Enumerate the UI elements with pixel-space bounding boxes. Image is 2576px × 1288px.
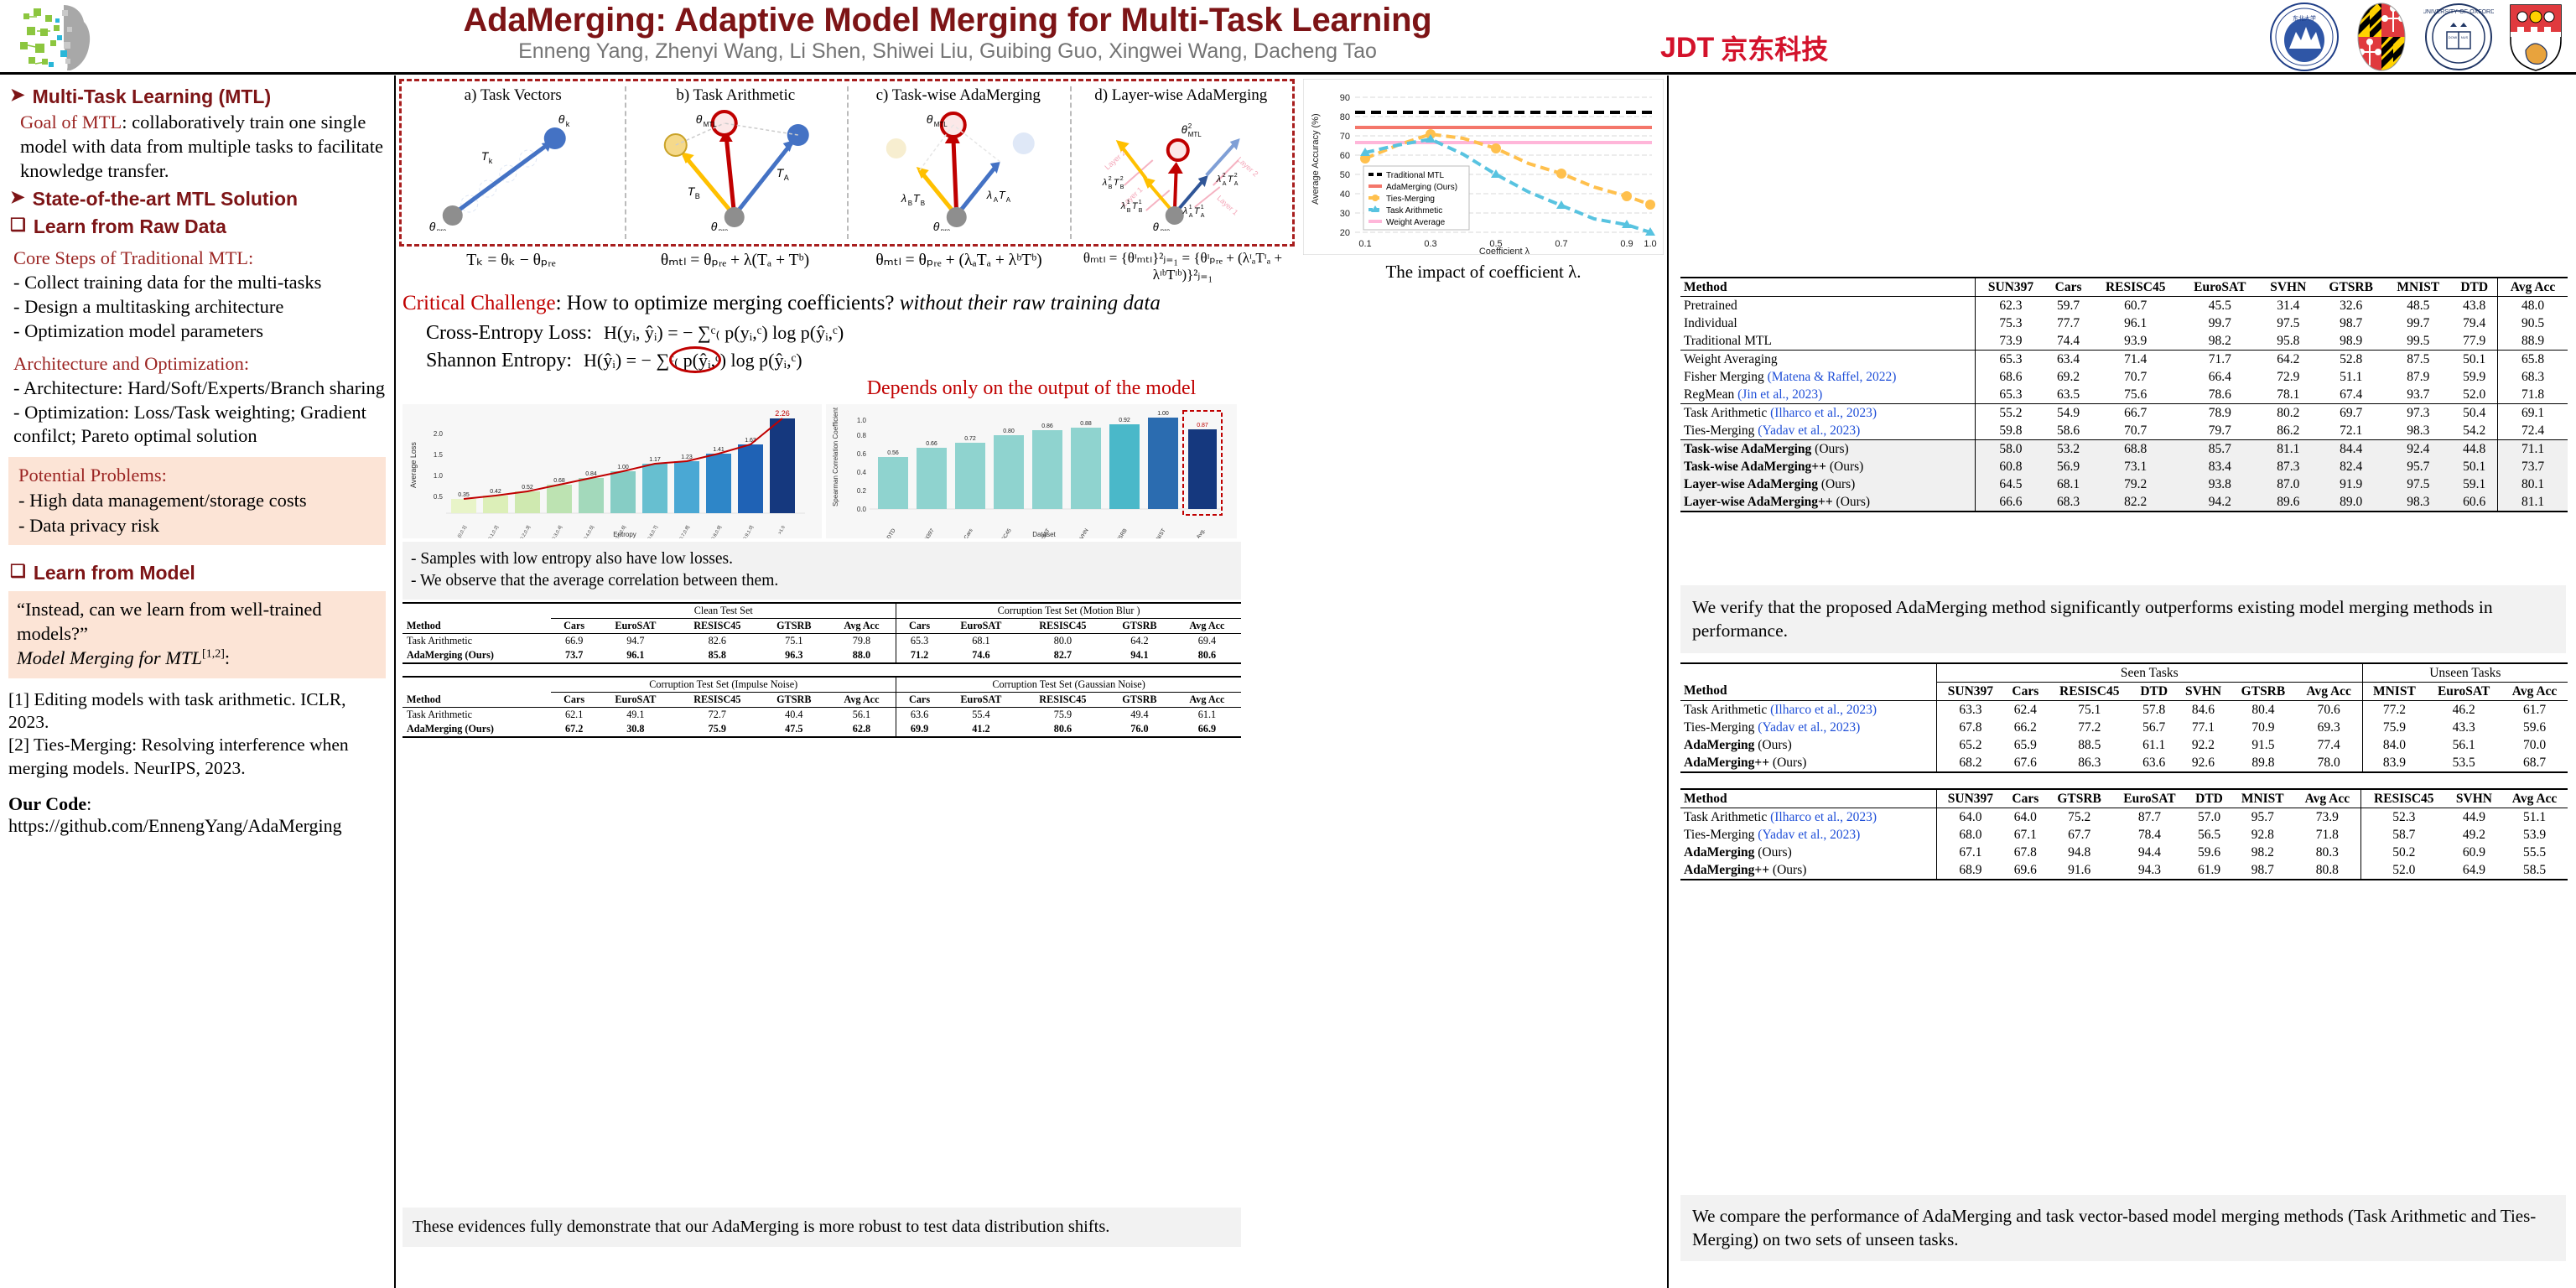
value-cell: 69.1 bbox=[2498, 404, 2568, 423]
value-cell: 68.1 bbox=[2046, 475, 2091, 493]
shannon-entropy-row: Shannon Entropy: H(ŷᵢ) = − ∑ᶜ₍ p(ŷᵢ,ᶜ) l… bbox=[426, 350, 1660, 372]
value-cell: 81.1 bbox=[2498, 493, 2568, 512]
value-cell: 85.8 bbox=[674, 648, 761, 663]
value-cell: 71.8 bbox=[2294, 826, 2360, 844]
value-cell: 30.8 bbox=[597, 722, 674, 737]
value-cell: 97.5 bbox=[2385, 475, 2451, 493]
value-cell: 78.9 bbox=[2180, 404, 2259, 423]
cross-entropy-equation: H(yᵢ, ŷᵢ) = − ∑ᶜ₍ p(yᵢ,ᶜ) log p(ŷᵢ,ᶜ) bbox=[604, 322, 844, 344]
observation-item: - We observe that the average correlatio… bbox=[411, 570, 1233, 592]
value-cell: 65.8 bbox=[2498, 351, 2568, 369]
value-cell: 50.4 bbox=[2451, 404, 2497, 423]
value-cell: 48.5 bbox=[2385, 297, 2451, 315]
value-cell: 78.1 bbox=[2259, 386, 2317, 404]
value-cell: 65.3 bbox=[896, 634, 943, 649]
value-cell: 53.9 bbox=[2501, 826, 2568, 844]
value-cell: 81.1 bbox=[2259, 440, 2317, 459]
value-cell: 94.7 bbox=[597, 634, 674, 649]
value-cell: 44.8 bbox=[2451, 440, 2497, 459]
value-cell: 49.1 bbox=[597, 708, 674, 723]
value-cell: 70.7 bbox=[2090, 368, 2180, 386]
svg-text:θ: θ bbox=[933, 220, 940, 231]
svg-text:pre: pre bbox=[718, 227, 728, 231]
right-note-2: We compare the performance of AdaMerging… bbox=[1680, 1195, 2566, 1261]
value-cell: 60.7 bbox=[2090, 297, 2180, 315]
value-cell: 75.9 bbox=[674, 722, 761, 737]
value-cell: 74.6 bbox=[943, 648, 1020, 663]
value-cell: 92.2 bbox=[2176, 736, 2231, 754]
method-cell: RegMean (Jin et al., 2023) bbox=[1680, 386, 1976, 404]
main-results-table-wrap: MethodSUN397CarsRESISC45EuroSATSVHNGTSRB… bbox=[1680, 277, 2568, 512]
brain-logo-icon bbox=[12, 3, 121, 72]
group-header: Corruption Test Set (Gaussian Noise) bbox=[896, 677, 1241, 693]
value-cell: 65.2 bbox=[1936, 736, 2003, 754]
heading-learn-from-model: ❑ Learn from Model bbox=[10, 562, 386, 584]
value-cell: 92.8 bbox=[2231, 826, 2294, 844]
value-cell: 67.8 bbox=[1936, 719, 2003, 736]
svg-text:0.86: 0.86 bbox=[1041, 423, 1053, 429]
value-cell: 69.2 bbox=[2046, 368, 2091, 386]
value-cell: 80.4 bbox=[2231, 701, 2296, 719]
value-cell: 61.9 bbox=[2187, 861, 2231, 880]
crest-logo-icon bbox=[2501, 2, 2571, 72]
column-header: GTSRB bbox=[761, 693, 828, 708]
column-header: SVHN bbox=[2176, 683, 2231, 701]
figure-panel-b: b) Task Arithmetic θMTL θpre bbox=[625, 81, 848, 244]
svg-text:T: T bbox=[1193, 206, 1200, 216]
value-cell: 75.9 bbox=[1020, 708, 1106, 723]
value-cell: 89.6 bbox=[2259, 493, 2317, 512]
column-header: GTSRB bbox=[2317, 278, 2385, 297]
svg-text:λ: λ bbox=[1182, 206, 1187, 216]
value-cell: 48.0 bbox=[2498, 297, 2568, 315]
value-cell: 44.9 bbox=[2447, 808, 2501, 827]
value-cell: 31.4 bbox=[2259, 297, 2317, 315]
value-cell: 64.0 bbox=[2004, 808, 2047, 827]
value-cell: 68.6 bbox=[1976, 368, 2046, 386]
method-cell: Task-wise AdaMerging (Ours) bbox=[1680, 440, 1976, 459]
value-cell: 70.9 bbox=[2231, 719, 2296, 736]
value-cell: 76.0 bbox=[1106, 722, 1173, 737]
figure-equations-row: Tₖ = θₖ − θₚᵣₑ θₘₜₗ = θₚᵣₑ + λ(Tₐ + Tᵇ) … bbox=[399, 250, 1295, 280]
table-row: AdaMerging (Ours)73.796.185.896.388.071.… bbox=[402, 648, 1241, 663]
entropy-loss-bar-chart: 0.51.01.52.0 Average Loss bbox=[402, 404, 822, 538]
svg-text:2.0: 2.0 bbox=[434, 430, 444, 438]
svg-text:1: 1 bbox=[1126, 200, 1130, 205]
svg-text:0.88: 0.88 bbox=[1080, 421, 1092, 427]
value-cell: 72.7 bbox=[674, 708, 761, 723]
value-cell: 96.1 bbox=[597, 648, 674, 663]
value-cell: 80.2 bbox=[2259, 404, 2317, 423]
value-cell: 77.7 bbox=[2046, 314, 2091, 332]
value-cell: 65.3 bbox=[1976, 351, 2046, 369]
value-cell: 55.5 bbox=[2501, 844, 2568, 861]
value-cell: 67.4 bbox=[2317, 386, 2385, 404]
svg-text:0.2: 0.2 bbox=[857, 487, 867, 495]
value-cell: 94.2 bbox=[2180, 493, 2259, 512]
value-cell: 68.3 bbox=[2498, 368, 2568, 386]
table-row: Ties-Merging (Yadav et al., 2023)67.866.… bbox=[1680, 719, 2568, 736]
problems-label: Potential Problems: bbox=[18, 463, 376, 487]
svg-text:0.66: 0.66 bbox=[926, 441, 937, 447]
value-cell: 56.5 bbox=[2187, 826, 2231, 844]
value-cell: 85.7 bbox=[2180, 440, 2259, 459]
table-row: AdaMerging (Ours)67.230.875.947.562.869.… bbox=[402, 722, 1241, 737]
cross-entropy-label: Cross-Entropy Loss: bbox=[426, 322, 592, 345]
svg-text:东北大学: 东北大学 bbox=[2293, 14, 2316, 22]
value-cell: 93.7 bbox=[2385, 386, 2451, 404]
value-cell: 67.1 bbox=[2004, 826, 2047, 844]
value-cell: 99.7 bbox=[2180, 314, 2259, 332]
table-row: Task Arithmetic (Ilharco et al., 2023)64… bbox=[1680, 808, 2568, 827]
svg-text:pre: pre bbox=[1160, 227, 1170, 231]
neu-logo-icon: 东北大学 bbox=[2269, 2, 2340, 72]
value-cell: 50.2 bbox=[2360, 844, 2446, 861]
svg-text:A: A bbox=[1006, 196, 1011, 204]
value-cell: 67.2 bbox=[551, 722, 597, 737]
main-results-table: MethodSUN397CarsRESISC45EuroSATSVHNGTSRB… bbox=[1680, 277, 2568, 512]
value-cell: 62.3 bbox=[1976, 297, 2046, 315]
value-cell: 80.3 bbox=[2294, 844, 2360, 861]
panel-c-diagram: θMTL θpre λBTB λATA bbox=[847, 105, 1070, 231]
value-cell: 80.1 bbox=[2498, 475, 2568, 493]
svg-text:UNIVERSITY·OF·OXFORD: UNIVERSITY·OF·OXFORD bbox=[2423, 9, 2494, 15]
svg-text:0.5: 0.5 bbox=[434, 493, 444, 501]
value-cell: 87.5 bbox=[2385, 351, 2451, 369]
method-cell: AdaMerging (Ours) bbox=[402, 648, 551, 663]
column-header: Cars bbox=[2004, 683, 2047, 701]
column-header: SUN397 bbox=[1976, 278, 2046, 297]
value-cell: 46.2 bbox=[2426, 701, 2501, 719]
svg-text:0.72: 0.72 bbox=[964, 436, 976, 442]
svg-text:0.80: 0.80 bbox=[1003, 428, 1015, 434]
value-cell: 41.2 bbox=[943, 722, 1020, 737]
svg-text:0.7: 0.7 bbox=[1555, 239, 1567, 249]
heading-sota-label: State-of-the-art MTL Solution bbox=[33, 188, 298, 210]
svg-text:0.68: 0.68 bbox=[553, 478, 565, 484]
value-cell: 72.1 bbox=[2317, 422, 2385, 440]
value-cell: 68.9 bbox=[1936, 861, 2003, 880]
svg-text:0.4: 0.4 bbox=[857, 469, 867, 476]
table-row: Weight Averaging65.363.471.471.764.252.8… bbox=[1680, 351, 2568, 369]
table-row: Pretrained62.359.760.745.531.432.648.543… bbox=[1680, 297, 2568, 315]
svg-text:λ: λ bbox=[901, 192, 906, 205]
value-cell: 90.5 bbox=[2498, 314, 2568, 332]
svg-text:NUS: NUS bbox=[2461, 35, 2469, 39]
svg-text:A: A bbox=[783, 174, 788, 182]
architecture-label: Architecture and Optimization: bbox=[13, 353, 386, 375]
column-header: Cars bbox=[2004, 789, 2047, 808]
value-cell: 55.2 bbox=[1976, 404, 2046, 423]
value-cell: 53.5 bbox=[2426, 754, 2501, 772]
value-cell: 49.2 bbox=[2447, 826, 2501, 844]
value-cell: 70.0 bbox=[2501, 736, 2568, 754]
svg-text:MTL: MTL bbox=[934, 121, 948, 128]
svg-text:A: A bbox=[1233, 181, 1238, 187]
figure-panel-d-title: d) Layer-wise AdaMerging bbox=[1070, 81, 1293, 105]
svg-text:0.8: 0.8 bbox=[857, 432, 867, 439]
value-cell: 84.6 bbox=[2176, 701, 2231, 719]
svg-text:λ: λ bbox=[986, 189, 992, 201]
svg-text:λ: λ bbox=[1101, 178, 1106, 188]
value-cell: 50.1 bbox=[2451, 458, 2497, 475]
svg-text:Entropy: Entropy bbox=[613, 531, 636, 538]
value-cell: 89.8 bbox=[2231, 754, 2296, 772]
value-cell: 97.5 bbox=[2259, 314, 2317, 332]
value-cell: 89.0 bbox=[2317, 493, 2385, 512]
table-row: AdaMerging (Ours)67.167.894.894.459.698.… bbox=[1680, 844, 2568, 861]
value-cell: 59.9 bbox=[2451, 368, 2497, 386]
column-header: SVHN bbox=[2447, 789, 2501, 808]
column-header: SUN397 bbox=[1936, 789, 2003, 808]
column-header: RESISC45 bbox=[674, 619, 761, 634]
svg-text:θ: θ bbox=[558, 112, 565, 126]
column-header: Method bbox=[402, 619, 551, 634]
figure-panel-a-title: a) Task Vectors bbox=[402, 81, 625, 105]
spearman-bar-chart: 0.00.20.4 0.60.81.0 Spearman Correlation… bbox=[826, 404, 1237, 538]
critical-challenge-italic: without their raw training data bbox=[900, 292, 1161, 314]
column-header: EuroSAT bbox=[943, 619, 1020, 634]
svg-text:0.56: 0.56 bbox=[887, 450, 899, 456]
column-header: GTSRB bbox=[1106, 619, 1173, 634]
value-cell: 72.4 bbox=[2498, 422, 2568, 440]
table-row: Layer-wise AdaMerging (Ours)64.568.179.2… bbox=[1680, 475, 2568, 493]
quote-colon: : bbox=[225, 647, 230, 668]
method-figure-panel: a) Task Vectors θ k θ pre T bbox=[399, 79, 1295, 247]
list-item: - Data privacy risk bbox=[18, 513, 376, 538]
column-header: Avg Acc bbox=[2498, 278, 2568, 297]
value-cell: 98.2 bbox=[2180, 332, 2259, 351]
column-header: Avg Acc bbox=[1173, 693, 1241, 708]
method-cell: AdaMerging (Ours) bbox=[402, 722, 551, 737]
value-cell: 94.4 bbox=[2111, 844, 2187, 861]
value-cell: 56.1 bbox=[2426, 736, 2501, 754]
svg-text:1.0: 1.0 bbox=[857, 417, 867, 424]
value-cell: 75.2 bbox=[2047, 808, 2112, 827]
column-header: RESISC45 bbox=[674, 693, 761, 708]
value-cell: 94.8 bbox=[2047, 844, 2112, 861]
value-cell: 32.6 bbox=[2317, 297, 2385, 315]
svg-text:Average Loss: Average Loss bbox=[409, 442, 418, 488]
svg-text:1.17: 1.17 bbox=[649, 457, 661, 463]
value-cell: 64.9 bbox=[2447, 861, 2501, 880]
list-item: - Design a multitasking architecture bbox=[13, 295, 386, 319]
column-header: MNIST bbox=[2231, 789, 2294, 808]
svg-text:B: B bbox=[1138, 208, 1142, 214]
svg-text:A: A bbox=[1200, 213, 1204, 219]
value-cell: 88.9 bbox=[2498, 332, 2568, 351]
value-cell: 78.6 bbox=[2180, 386, 2259, 404]
table-row: AdaMerging++ (Ours)68.969.691.694.361.99… bbox=[1680, 861, 2568, 880]
method-cell: AdaMerging++ (Ours) bbox=[1680, 754, 1936, 772]
value-cell: 69.7 bbox=[2317, 404, 2385, 423]
code-link-line[interactable]: Our Code: https://github.com/EnnengYang/… bbox=[8, 793, 386, 837]
value-cell: 87.9 bbox=[2385, 368, 2451, 386]
goal-label: Goal of MTL bbox=[20, 112, 122, 132]
value-cell: 64.2 bbox=[2259, 351, 2317, 369]
heading-mtl: ➤ Multi-Task Learning (MTL) bbox=[10, 86, 386, 108]
unseen-tasks-table-1: Seen TasksUnseen TasksMethodSUN397CarsRE… bbox=[1680, 662, 2568, 773]
value-cell: 75.1 bbox=[2047, 701, 2132, 719]
svg-text:0.1: 0.1 bbox=[1358, 239, 1371, 249]
column-header: Cars bbox=[551, 693, 597, 708]
method-cell: Traditional MTL bbox=[1680, 332, 1976, 351]
value-cell: 80.6 bbox=[1173, 648, 1241, 663]
method-cell: Task Arithmetic (Ilharco et al., 2023) bbox=[1680, 404, 1976, 423]
svg-text:θ: θ bbox=[695, 112, 702, 126]
value-cell: 57.0 bbox=[2187, 808, 2231, 827]
method-cell: Task Arithmetic bbox=[402, 708, 551, 723]
column-header: MNIST bbox=[2385, 278, 2451, 297]
value-cell: 71.8 bbox=[2498, 386, 2568, 404]
column-header: MNIST bbox=[2362, 683, 2426, 701]
svg-text:0.0: 0.0 bbox=[857, 506, 867, 513]
value-cell: 54.9 bbox=[2046, 404, 2091, 423]
column-header: DTD bbox=[2451, 278, 2497, 297]
value-cell: 45.5 bbox=[2180, 297, 2259, 315]
column-header: RESISC45 bbox=[2047, 683, 2132, 701]
value-cell: 58.0 bbox=[1976, 440, 2046, 459]
value-cell: 63.6 bbox=[896, 708, 943, 723]
evidence-box: These evidences fully demonstrate that o… bbox=[402, 1207, 1241, 1247]
column-header: EuroSAT bbox=[597, 619, 674, 634]
svg-text:1.0: 1.0 bbox=[434, 472, 444, 480]
table-row: Task Arithmetic66.994.782.675.179.865.36… bbox=[402, 634, 1241, 649]
value-cell: 56.9 bbox=[2046, 458, 2091, 475]
svg-text:1.5: 1.5 bbox=[434, 451, 444, 459]
value-cell: 73.7 bbox=[2498, 458, 2568, 475]
column-header: Method bbox=[1680, 683, 1936, 701]
value-cell: 63.3 bbox=[1936, 701, 2003, 719]
value-cell: 67.6 bbox=[2004, 754, 2047, 772]
value-cell: 58.5 bbox=[2501, 861, 2568, 880]
value-cell: 75.3 bbox=[1976, 314, 2046, 332]
value-cell: 79.4 bbox=[2451, 314, 2497, 332]
column-header: Avg Acc bbox=[2296, 683, 2362, 701]
page-title: AdaMerging: Adaptive Model Merging for M… bbox=[151, 2, 1744, 39]
value-cell: 68.2 bbox=[1936, 754, 2003, 772]
svg-text:T: T bbox=[1227, 174, 1233, 184]
value-cell: 58.7 bbox=[2360, 826, 2446, 844]
method-cell: AdaMerging++ (Ours) bbox=[1680, 861, 1936, 880]
svg-text:B: B bbox=[1108, 184, 1112, 190]
svg-text:Dataset: Dataset bbox=[1032, 531, 1056, 538]
svg-text:60: 60 bbox=[1340, 151, 1350, 161]
value-cell: 51.1 bbox=[2501, 808, 2568, 827]
svg-text:θ: θ bbox=[429, 220, 436, 231]
value-cell: 95.7 bbox=[2385, 458, 2451, 475]
value-cell: 73.7 bbox=[551, 648, 597, 663]
value-cell: 70.6 bbox=[2296, 701, 2362, 719]
equation-a: Tₖ = θₖ − θₚᵣₑ bbox=[399, 250, 623, 280]
svg-text:pre: pre bbox=[941, 227, 951, 231]
svg-text:0.52: 0.52 bbox=[522, 485, 533, 491]
table-row: Task Arithmetic62.149.172.740.456.163.65… bbox=[402, 708, 1241, 723]
value-cell: 77.9 bbox=[2451, 332, 2497, 351]
svg-text:Traditional MTL: Traditional MTL bbox=[1386, 171, 1445, 180]
jd-logo: JDT 京东科技 bbox=[1660, 29, 1828, 67]
svg-text:Layer 2: Layer 2 bbox=[1235, 155, 1259, 179]
column-header: Avg Acc bbox=[2501, 789, 2568, 808]
value-cell: 88.5 bbox=[2047, 736, 2132, 754]
value-cell: 67.1 bbox=[1936, 844, 2003, 861]
quote-line-1: “Instead, can we learn from well-trained… bbox=[17, 598, 377, 647]
svg-text:θ: θ bbox=[710, 220, 717, 231]
chart-legend: Traditional MTL AdaMerging (Ours) Ties-M… bbox=[1363, 166, 1469, 230]
column-header: RESISC45 bbox=[1020, 619, 1106, 634]
value-cell: 77.1 bbox=[2176, 719, 2231, 736]
value-cell: 75.9 bbox=[2362, 719, 2426, 736]
svg-text:0.9: 0.9 bbox=[1620, 239, 1633, 249]
svg-text:0.84: 0.84 bbox=[585, 471, 597, 477]
value-cell: 60.8 bbox=[1976, 458, 2046, 475]
value-cell: 65.9 bbox=[2004, 736, 2047, 754]
svg-text:Coefficient λ: Coefficient λ bbox=[1479, 247, 1530, 255]
cross-entropy-row: Cross-Entropy Loss: H(yᵢ, ŷᵢ) = − ∑ᶜ₍ p(… bbox=[426, 322, 1660, 345]
unseen-tables-wrap: Seen TasksUnseen TasksMethodSUN397CarsRE… bbox=[1680, 662, 2568, 880]
figure-panel-c-title: c) Task-wise AdaMerging bbox=[847, 81, 1070, 105]
equation-d: θₘₜₗ = {θᶦₘₜₗ}²ⱼ₌₁ = {θᶦₚᵣₑ + (λᶦₐTᶦₐ + … bbox=[1071, 250, 1295, 280]
poster-root: AdaMerging: Adaptive Model Merging for M… bbox=[0, 0, 2576, 1288]
method-cell: Ties-Merging (Yadav et al., 2023) bbox=[1680, 422, 1976, 440]
value-cell: 79.7 bbox=[2180, 422, 2259, 440]
heading-sota: ➤ State-of-the-art MTL Solution bbox=[10, 188, 386, 210]
value-cell: 52.0 bbox=[2451, 386, 2497, 404]
svg-text:T: T bbox=[913, 192, 921, 205]
value-cell: 62.1 bbox=[551, 708, 597, 723]
value-cell: 93.9 bbox=[2090, 332, 2180, 351]
value-cell: 53.2 bbox=[2046, 440, 2091, 459]
value-cell: 62.4 bbox=[2004, 701, 2047, 719]
middle-column: a) Task Vectors θ k θ pre T bbox=[394, 75, 1669, 1288]
list-item: - High data management/storage costs bbox=[18, 488, 376, 512]
list-item: - Optimization model parameters bbox=[13, 319, 386, 344]
method-cell: Task Arithmetic bbox=[402, 634, 551, 649]
value-cell: 66.9 bbox=[551, 634, 597, 649]
panel-b-diagram: θMTL θpre TB TA bbox=[625, 105, 848, 231]
svg-text:20: 20 bbox=[1340, 228, 1350, 238]
column-header: Method bbox=[1680, 278, 1976, 297]
svg-text:B: B bbox=[908, 200, 912, 207]
svg-text:Ties-Merging: Ties-Merging bbox=[1386, 195, 1435, 204]
column-header: EuroSAT bbox=[2180, 278, 2259, 297]
value-cell: 95.7 bbox=[2231, 808, 2294, 827]
figure-panel-a: a) Task Vectors θ k θ pre T bbox=[402, 81, 625, 244]
value-cell: 59.7 bbox=[2046, 297, 2091, 315]
value-cell: 98.3 bbox=[2385, 493, 2451, 512]
column-header: EuroSAT bbox=[2426, 683, 2501, 701]
poster-header: AdaMerging: Adaptive Model Merging for M… bbox=[0, 0, 2576, 72]
value-cell: 71.4 bbox=[2090, 351, 2180, 369]
column-header: EuroSAT bbox=[2111, 789, 2187, 808]
reference-item: [1] Editing models with task arithmetic.… bbox=[8, 688, 386, 734]
value-cell: 52.0 bbox=[2360, 861, 2446, 880]
critical-challenge-text: : How to optimize merging coefficients? bbox=[556, 292, 895, 314]
value-cell: 78.4 bbox=[2111, 826, 2187, 844]
figure-panel-b-title: b) Task Arithmetic bbox=[625, 81, 848, 105]
svg-text:70: 70 bbox=[1340, 132, 1350, 142]
table-row: Fisher Merging (Matena & Raffel, 2022)68… bbox=[1680, 368, 2568, 386]
value-cell: 63.6 bbox=[2132, 754, 2176, 772]
value-cell: 84.0 bbox=[2362, 736, 2426, 754]
group-header: Corruption Test Set (Motion Blur ) bbox=[896, 603, 1241, 619]
value-cell: 84.4 bbox=[2317, 440, 2385, 459]
table-row: Task-wise AdaMerging++ (Ours)60.856.973.… bbox=[1680, 458, 2568, 475]
value-cell: 68.8 bbox=[2090, 440, 2180, 459]
svg-text:2: 2 bbox=[1187, 122, 1192, 130]
svg-text:0.3: 0.3 bbox=[1424, 239, 1436, 249]
value-cell: 94.3 bbox=[2111, 861, 2187, 880]
